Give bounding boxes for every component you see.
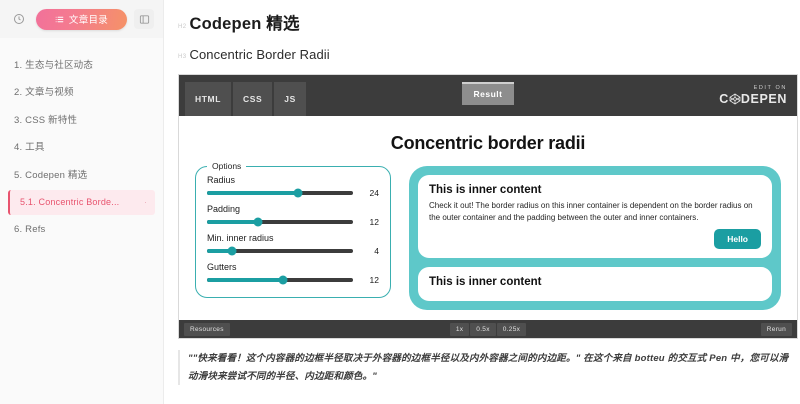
toc-button-label: 文章目录 [69,12,108,26]
control-padding-label: Padding [207,205,379,214]
sidebar-item-codepen[interactable]: 5. Codepen 精选 [0,162,163,189]
codepen-embed: HTML CSS JS Result EDIT ON C [178,74,798,339]
sidebar: 文章目录 1. 生态与社区动态 2. 文章与视频 3. CSS 新特性 4. 工… [0,0,164,404]
options-panel: Options Radius 24 [195,166,391,298]
sidebar-item-refs[interactable]: 6. Refs [0,216,163,243]
inner-card-1-actions: Hello [429,229,761,249]
control-min-inner-radius-label: Min. inner radius [207,234,379,243]
sidebar-item-ecosystem[interactable]: 1. 生态与社区动态 [0,52,163,79]
tab-result[interactable]: Result [462,82,515,105]
list-icon [55,15,64,24]
min-inner-radius-slider-knob[interactable] [227,247,236,256]
quote-line-1: ""快来看看！这个内容器的边框半径取决于外容器的边框半径以及内外容器之间的内边距… [188,353,727,364]
zoom-level-group: 1x 0.5x 0.25x [179,323,797,336]
sidebar-toc-list: 1. 生态与社区动态 2. 文章与视频 3. CSS 新特性 4. 工具 5. … [0,38,163,243]
control-min-inner-radius-row: 4 [207,246,379,256]
main-content: H2 Codepen 精选 H3 Concentric Border Radii… [164,0,800,404]
control-radius: Radius 24 [207,176,379,198]
control-gutters-value: 12 [363,275,379,285]
control-radius-row: 24 [207,188,379,198]
inner-card-2-title: This is inner content [429,276,761,288]
pen-description-quote: ""快来看看！这个内容器的边框半径取决于外容器的边框半径以及内外容器之间的内边距… [178,350,798,385]
radius-slider-knob[interactable] [293,189,302,198]
codepen-toolbar: HTML CSS JS Result EDIT ON C [179,75,797,116]
inner-card-2: This is inner content [418,267,772,301]
edit-on-label: EDIT ON [754,85,787,91]
codepen-preview-stage: Concentric border radii Options Radius [179,116,797,320]
hello-button[interactable]: Hello [714,229,761,249]
toc-button[interactable]: 文章目录 [36,9,127,30]
h3-tag-marker: H3 [178,54,186,60]
padding-slider-fill [207,220,258,224]
subsection-title: Concentric Border Radii [189,47,329,62]
codepen-statusbar: Resources 1x 0.5x 0.25x Rerun [179,320,797,338]
sidebar-item-label: 5.1. Concentric Borde... [20,197,119,208]
zoom-05x[interactable]: 0.5x [470,323,496,336]
control-gutters-row: 12 [207,275,379,285]
sidebar-item-css[interactable]: 3. CSS 新特性 [0,107,163,134]
codepen-wordmark-left: C [719,92,729,106]
padding-slider[interactable] [207,220,353,224]
resources-button[interactable]: Resources [184,323,230,336]
control-radius-value: 24 [363,188,379,198]
inner-card-1-title: This is inner content [429,184,761,196]
control-gutters: Gutters 12 [207,263,379,285]
control-padding: Padding 12 [207,205,379,227]
sidebar-item-articles[interactable]: 2. 文章与视频 [0,79,163,106]
codepen-logo-icon [729,93,741,105]
gutters-slider[interactable] [207,278,353,282]
demo-body: Options Radius 24 [195,166,781,310]
zoom-025x[interactable]: 0.25x [497,323,526,336]
radius-slider[interactable] [207,191,353,195]
min-inner-radius-slider[interactable] [207,249,353,253]
control-min-inner-radius-value: 4 [363,246,379,256]
outer-container: This is inner content Check it out! The … [409,166,781,310]
h2-tag-marker: H2 [178,24,186,30]
tab-js[interactable]: JS [274,82,306,116]
codepen-wordmark: C DEPEN [719,92,787,106]
rerun-button[interactable]: Rerun [761,323,792,336]
page-title: Codepen 精选 [189,10,299,34]
sidebar-item-tools[interactable]: 4. 工具 [0,134,163,161]
tab-html[interactable]: HTML [185,82,232,116]
radius-slider-fill [207,191,298,195]
padding-slider-knob[interactable] [254,218,263,227]
page-root: 文章目录 1. 生态与社区动态 2. 文章与视频 3. CSS 新特性 4. 工… [0,0,800,404]
gutters-slider-fill [207,278,283,282]
inner-card-1: This is inner content Check it out! The … [418,175,772,258]
section-heading-h3: H3 Concentric Border Radii [178,47,800,62]
control-gutters-label: Gutters [207,263,379,272]
options-legend: Options [207,161,246,171]
zoom-1x[interactable]: 1x [450,323,469,336]
clock-icon[interactable] [9,9,29,29]
codepen-wordmark-right: DEPEN [741,92,787,106]
inner-card-1-text: Check it out! The border radius on this … [429,200,761,223]
control-padding-row: 12 [207,217,379,227]
codepen-tab-group: HTML CSS JS [179,75,306,116]
sidebar-item-concentric-border[interactable]: 5.1. Concentric Borde... · [8,190,155,215]
panel-icon[interactable] [134,9,154,29]
gutters-slider-knob[interactable] [278,276,287,285]
demo-title: Concentric border radii [195,133,781,154]
sidebar-item-trailing-dot: · [140,198,147,208]
section-heading-h2: H2 Codepen 精选 [178,10,800,34]
control-radius-label: Radius [207,176,379,185]
control-min-inner-radius: Min. inner radius 4 [207,234,379,256]
sidebar-header: 文章目录 [0,0,163,38]
control-padding-value: 12 [363,217,379,227]
edit-on-codepen-link[interactable]: EDIT ON C DEPEN [719,75,797,116]
tab-css[interactable]: CSS [233,82,273,116]
